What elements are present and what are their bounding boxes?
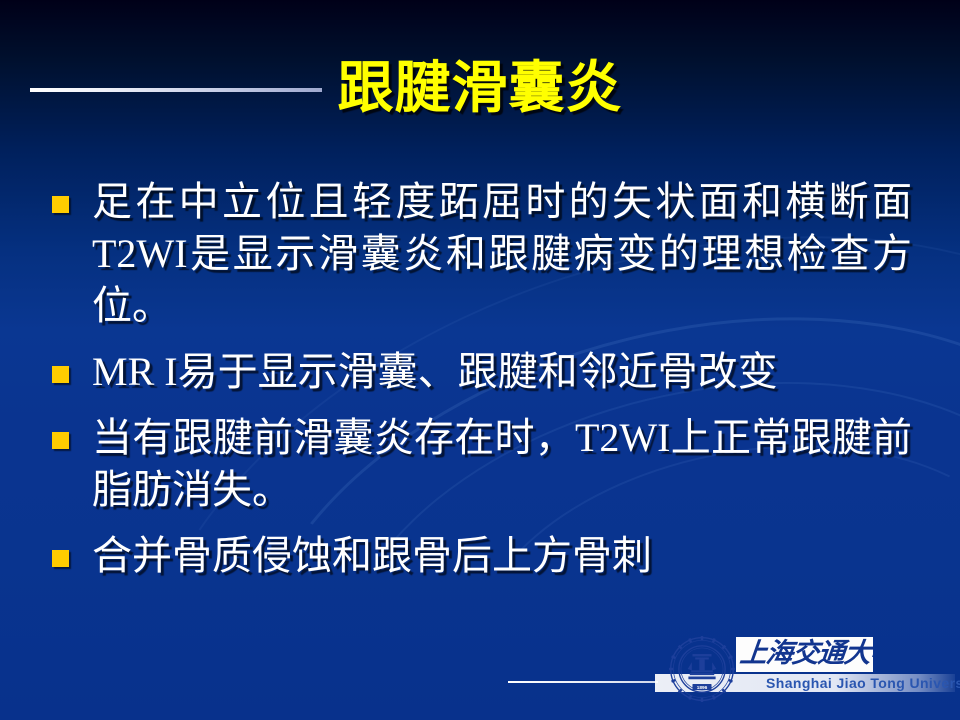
list-item: 合并骨质侵蚀和跟骨后上方骨刺 [52, 530, 912, 582]
university-chinese-wordmark: 上海交通大学 [736, 637, 873, 672]
slide-title: 跟腱滑囊炎 [0, 56, 960, 122]
bullet-list: 足在中立位且轻度跖屈时的矢状面和横断面T2WI是显示滑囊炎和跟腱病变的理想检查方… [52, 176, 912, 596]
list-item: MR I易于显示滑囊、跟腱和邻近骨改变 [52, 346, 912, 398]
bullet-square-icon [52, 550, 69, 567]
presentation-slide: 跟腱滑囊炎 足在中立位且轻度跖屈时的矢状面和横断面T2WI是显示滑囊炎和跟腱病变… [0, 0, 960, 720]
bullet-square-icon [52, 366, 69, 383]
list-item: 当有跟腱前滑囊炎存在时，T2WI上正常跟腱前脂肪消失。 [52, 412, 912, 516]
university-seal-icon: 1896 [668, 635, 736, 703]
bullet-square-icon [52, 196, 69, 213]
bullet-text: 当有跟腱前滑囊炎存在时，T2WI上正常跟腱前脂肪消失。 [92, 412, 912, 516]
university-logo: 1896 上海交通大学 Shanghai Jiao Tong Universit… [668, 633, 958, 711]
university-chinese-name: 上海交通大学 [738, 637, 873, 671]
bullet-text: 足在中立位且轻度跖屈时的矢状面和横断面T2WI是显示滑囊炎和跟腱病变的理想检查方… [92, 176, 912, 332]
bullet-text: 合并骨质侵蚀和跟骨后上方骨刺 [92, 530, 912, 582]
footer-divider-line [508, 681, 658, 683]
university-english-name: Shanghai Jiao Tong University [766, 675, 960, 691]
list-item: 足在中立位且轻度跖屈时的矢状面和横断面T2WI是显示滑囊炎和跟腱病变的理想检查方… [52, 176, 912, 332]
seal-year-text: 1896 [697, 685, 708, 691]
bullet-square-icon [52, 432, 69, 449]
bullet-text: MR I易于显示滑囊、跟腱和邻近骨改变 [92, 346, 912, 398]
